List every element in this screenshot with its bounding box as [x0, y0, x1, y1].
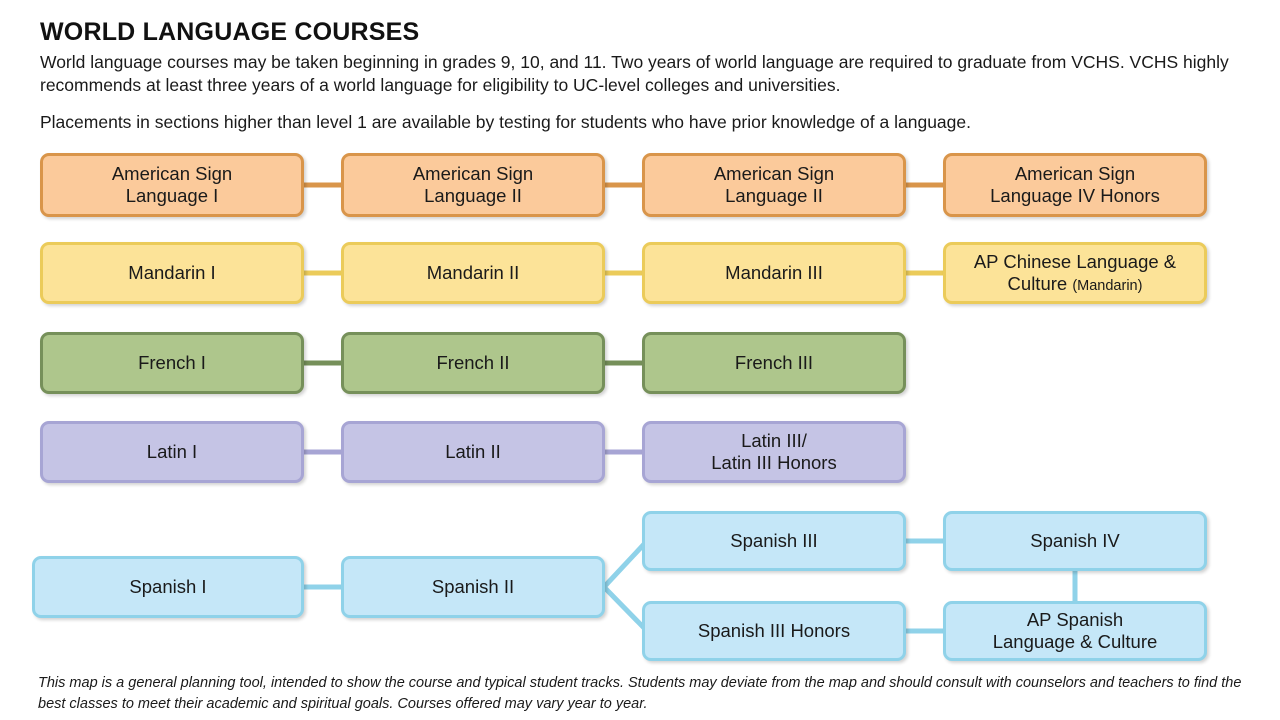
course-label: American SignLanguage I: [51, 163, 293, 207]
course-box-latin-3[interactable]: Latin III/Latin III Honors: [642, 421, 906, 483]
course-label: American SignLanguage II: [352, 163, 594, 207]
course-label: AP SpanishLanguage & Culture: [954, 609, 1196, 653]
course-box-french-3[interactable]: French III: [642, 332, 906, 394]
course-label: American SignLanguage II: [653, 163, 895, 207]
course-box-mandarin-2[interactable]: Mandarin II: [341, 242, 605, 304]
course-box-mandarin-1[interactable]: Mandarin I: [40, 242, 304, 304]
course-label: Spanish I: [43, 576, 293, 598]
course-box-spanish-2[interactable]: Spanish II: [341, 556, 605, 618]
course-box-ap-spanish[interactable]: AP SpanishLanguage & Culture: [943, 601, 1207, 661]
course-map-diagram: American SignLanguage I American SignLan…: [0, 0, 1280, 720]
course-label: French I: [51, 352, 293, 374]
connector-spanish-2-to-3: [604, 541, 647, 587]
course-box-spanish-3[interactable]: Spanish III: [642, 511, 906, 571]
course-box-latin-2[interactable]: Latin II: [341, 421, 605, 483]
course-box-spanish-1[interactable]: Spanish I: [32, 556, 304, 618]
course-label: Latin I: [51, 441, 293, 463]
course-label: Spanish III Honors: [653, 620, 895, 642]
footer-note: This map is a general planning tool, int…: [38, 673, 1248, 715]
course-label: Mandarin I: [51, 262, 293, 284]
course-box-ap-chinese[interactable]: AP Chinese Language &Culture (Mandarin): [943, 242, 1207, 304]
course-label: Spanish II: [352, 576, 594, 598]
course-label: French II: [352, 352, 594, 374]
course-box-french-2[interactable]: French II: [341, 332, 605, 394]
course-box-spanish-3-honors[interactable]: Spanish III Honors: [642, 601, 906, 661]
course-box-french-1[interactable]: French I: [40, 332, 304, 394]
course-label: Spanish III: [653, 530, 895, 552]
course-label: Spanish IV: [954, 530, 1196, 552]
course-box-spanish-4[interactable]: Spanish IV: [943, 511, 1207, 571]
course-label: Latin II: [352, 441, 594, 463]
course-box-asl-3[interactable]: American SignLanguage II: [642, 153, 906, 217]
course-box-asl-1[interactable]: American SignLanguage I: [40, 153, 304, 217]
course-box-mandarin-3[interactable]: Mandarin III: [642, 242, 906, 304]
course-label: French III: [653, 352, 895, 374]
course-box-latin-1[interactable]: Latin I: [40, 421, 304, 483]
course-label: AP Chinese Language &Culture (Mandarin): [954, 251, 1196, 296]
connector-spanish-2-to-3-honors: [604, 587, 647, 631]
course-label: Mandarin II: [352, 262, 594, 284]
course-label-sub: (Mandarin): [1072, 278, 1142, 294]
course-label: American SignLanguage IV Honors: [954, 163, 1196, 207]
course-box-asl-2[interactable]: American SignLanguage II: [341, 153, 605, 217]
course-label: Mandarin III: [653, 262, 895, 284]
course-box-asl-4-honors[interactable]: American SignLanguage IV Honors: [943, 153, 1207, 217]
course-label: Latin III/Latin III Honors: [653, 430, 895, 474]
